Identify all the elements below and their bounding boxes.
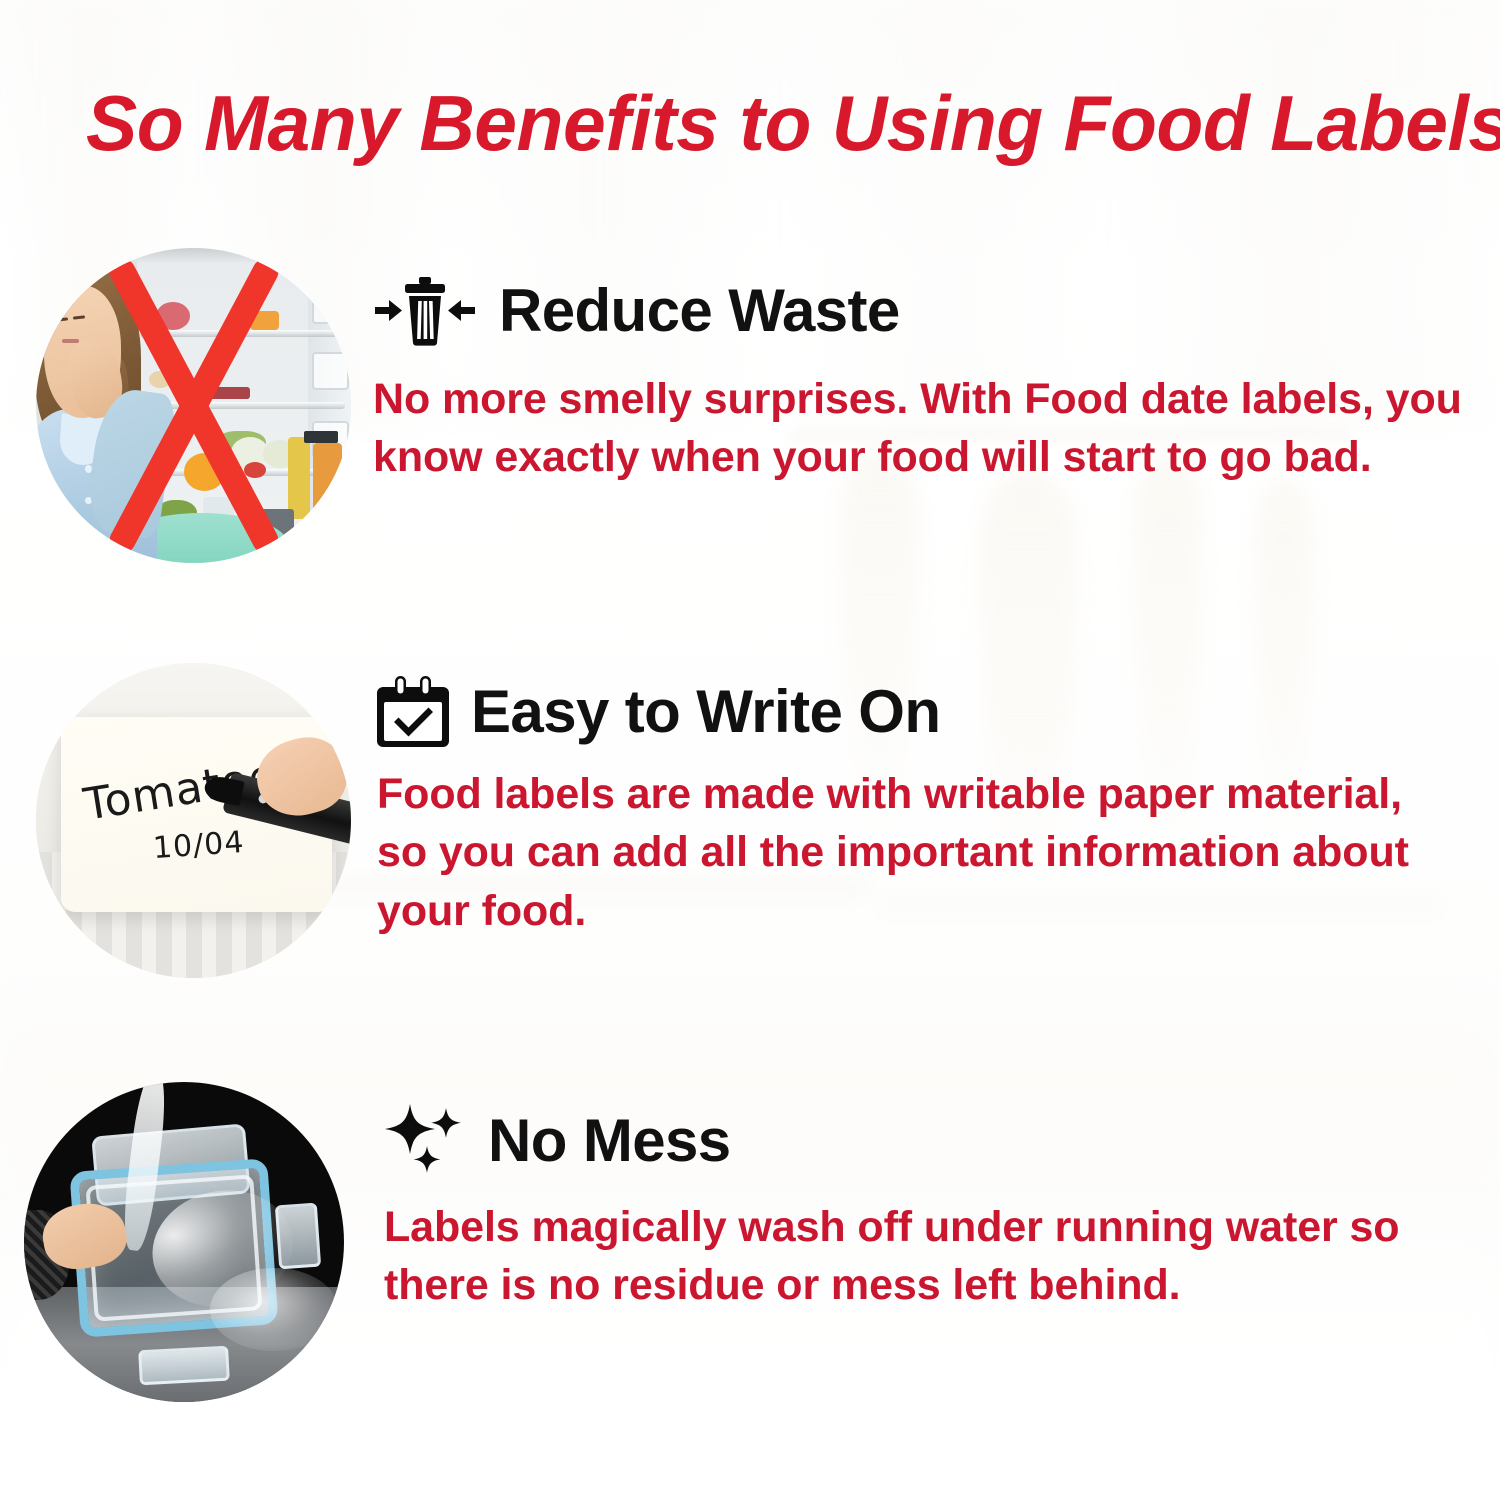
benefit-heading-line: Easy to Write On xyxy=(377,675,1447,749)
benefit-text-easy-to-write-on: Easy to Write On Food labels are made wi… xyxy=(377,663,1447,940)
benefit-body: Labels magically wash off under running … xyxy=(384,1198,1404,1315)
red-x-mark-overlay xyxy=(36,248,351,563)
benefit-text-no-mess: No Mess Labels magically wash off under … xyxy=(384,1082,1404,1315)
benefit-row-no-mess: No Mess Labels magically wash off under … xyxy=(24,1082,1404,1402)
woman-smelling-spoiled-fridge-food-photo xyxy=(36,248,351,563)
benefit-heading-line: Reduce Waste xyxy=(373,274,1463,348)
calendar-check-icon xyxy=(377,675,449,749)
benefit-body: Food labels are made with writable paper… xyxy=(377,765,1447,940)
label-date: 10/04 xyxy=(152,825,246,866)
container-rinsed-under-water-photo xyxy=(24,1082,344,1402)
benefit-heading: Easy to Write On xyxy=(471,682,940,742)
benefit-heading: No Mess xyxy=(488,1111,731,1171)
benefit-row-easy-to-write-on: Tomatoes 10/04 xyxy=(36,663,1447,978)
trash-reduce-icon xyxy=(373,276,477,346)
benefit-heading: Reduce Waste xyxy=(499,281,900,341)
benefit-row-reduce-waste: Reduce Waste No more smelly surprises. W… xyxy=(36,248,1463,563)
benefit-body: No more smelly surprises. With Food date… xyxy=(373,370,1463,487)
page-title: So Many Benefits to Using Food Labels xyxy=(86,84,1426,164)
benefit-heading-line: No Mess xyxy=(384,1104,1404,1178)
handwritten-label-photo: Tomatoes 10/04 xyxy=(36,663,351,978)
infographic-page: So Many Benefits to Using Food Labels xyxy=(0,0,1500,1500)
benefit-text-reduce-waste: Reduce Waste No more smelly surprises. W… xyxy=(373,248,1463,487)
sparkles-icon xyxy=(384,1102,466,1180)
